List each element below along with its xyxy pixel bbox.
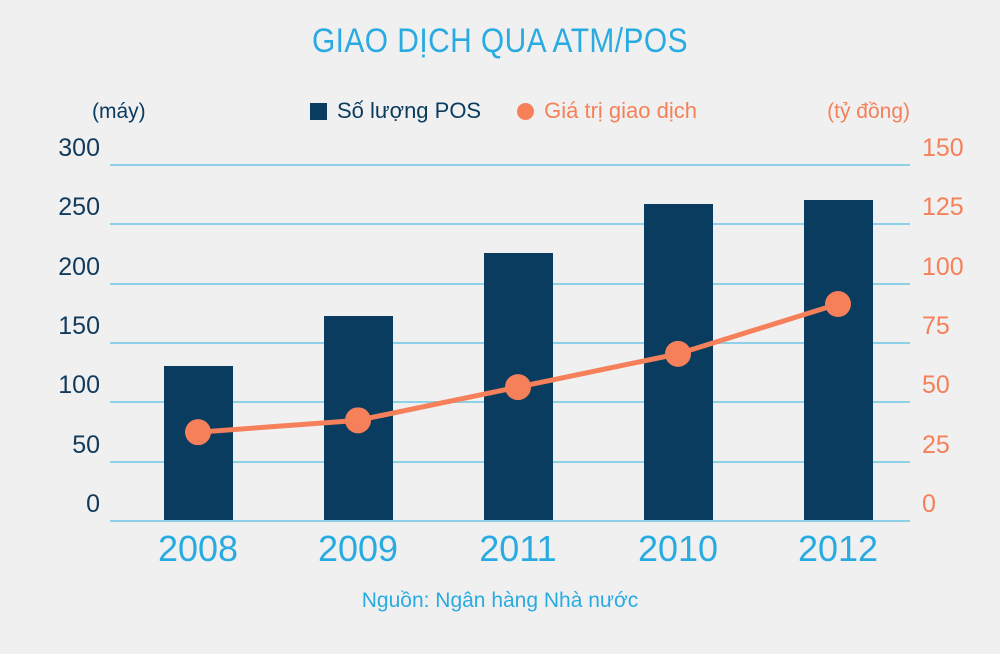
x-axis-label-2009: 2009 — [298, 528, 418, 570]
right-axis-tick-label: 125 — [922, 195, 982, 220]
left-axis-tick-label: 300 — [30, 136, 100, 161]
chart-title: GIAO DỊCH QUA ATM/POS — [60, 22, 940, 61]
x-axis-label-2011: 2011 — [458, 528, 578, 570]
left-axis-tick-label: 250 — [30, 195, 100, 220]
left-axis-tick-label: 150 — [30, 314, 100, 339]
line-marker-2009[interactable]: Giá trị giao dịch 2009: 42 — [345, 407, 371, 433]
line-series-overlay: Giá trị giao dịch 2008: 37Giá trị giao d… — [110, 164, 910, 520]
right-axis-tick-label: 100 — [922, 255, 982, 280]
legend-label-gia-tri-giao-dich: Giá trị giao dịch — [544, 98, 697, 124]
legend-item-so-luong-pos[interactable]: Số lượng POS — [310, 98, 481, 124]
left-axis-tick-label: 200 — [30, 255, 100, 280]
right-axis-tick-label: 0 — [922, 492, 982, 517]
line-marker-2012[interactable]: Giá trị giao dịch 2012: 91 — [825, 291, 851, 317]
x-axis-label-2010: 2010 — [618, 528, 738, 570]
left-axis-tick-label: 100 — [30, 373, 100, 398]
right-axis-tick-label: 50 — [922, 373, 982, 398]
chart-legend: Số lượng POS Giá trị giao dịch — [310, 98, 697, 124]
legend-item-gia-tri-giao-dich[interactable]: Giá trị giao dịch — [517, 98, 697, 124]
right-axis-tick-label: 150 — [922, 136, 982, 161]
line-marker-2010[interactable]: Giá trị giao dịch 2010: 70 — [665, 341, 691, 367]
line-marker-2011[interactable]: Giá trị giao dịch 2011: 56 — [505, 374, 531, 400]
chart-canvas: GIAO DỊCH QUA ATM/POS (máy) (tỷ đồng) Số… — [0, 0, 1000, 654]
left-axis-tick-label: 0 — [30, 492, 100, 517]
legend-square-icon — [310, 103, 327, 120]
plot-area: 3001502501252001001507510050502500Giá tr… — [110, 164, 910, 520]
line-marker-2008[interactable]: Giá trị giao dịch 2008: 37 — [185, 419, 211, 445]
x-axis-label-2008: 2008 — [138, 528, 258, 570]
legend-label-so-luong-pos: Số lượng POS — [337, 98, 481, 124]
line-path-gia-tri-giao-dich — [198, 304, 838, 432]
left-axis-unit-label: (máy) — [92, 100, 146, 124]
legend-circle-icon — [517, 103, 534, 120]
source-note: Nguồn: Ngân hàng Nhà nước — [0, 589, 1000, 613]
gridline — [110, 520, 910, 522]
right-axis-tick-label: 75 — [922, 314, 982, 339]
left-axis-tick-label: 50 — [30, 433, 100, 458]
right-axis-unit-label: (tỷ đồng) — [827, 100, 910, 124]
right-axis-tick-label: 25 — [922, 433, 982, 458]
x-axis-label-2012: 2012 — [778, 528, 898, 570]
